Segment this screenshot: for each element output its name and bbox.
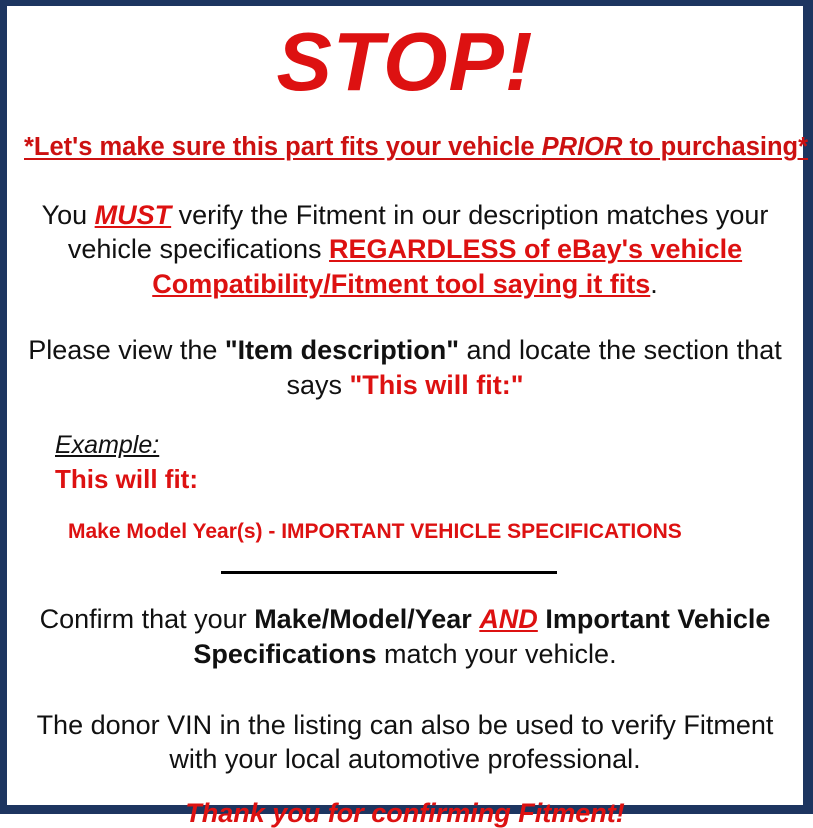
notice-content: STOP! *Let's make sure this part fits yo… bbox=[7, 20, 803, 819]
paragraph-donor-vin: The donor VIN in the listing can also be… bbox=[24, 708, 786, 777]
tagline-prior-emphasis: PRIOR bbox=[542, 133, 623, 161]
paragraph-confirm-match: Confirm that your Make/Model/Year AND Im… bbox=[24, 602, 786, 671]
section-divider bbox=[221, 571, 557, 574]
and-emphasis: AND bbox=[479, 604, 538, 634]
thank-you-message: Thank you for confirming Fitment! bbox=[24, 799, 786, 828]
example-label: Example: bbox=[55, 432, 159, 460]
tagline: *Let's make sure this part fits your veh… bbox=[24, 133, 786, 162]
this-will-fit-emphasis: "This will fit:" bbox=[349, 370, 523, 400]
make-model-year-emphasis: Make/Model/Year bbox=[254, 604, 472, 634]
divider-wrap bbox=[24, 571, 786, 574]
item-description-emphasis: "Item description" bbox=[225, 335, 459, 365]
example-label-row: Example: bbox=[55, 432, 786, 460]
fitment-notice-card: STOP! *Let's make sure this part fits yo… bbox=[0, 0, 813, 814]
confirm-part-1: Confirm that your bbox=[40, 604, 255, 634]
tagline-trail: to purchasing* bbox=[622, 133, 808, 161]
view-part-1: Please view the bbox=[28, 335, 225, 365]
tagline-lead: *Let's make sure this part fits your veh… bbox=[24, 133, 542, 161]
example-spec-line: Make Model Year(s) - IMPORTANT VEHICLE S… bbox=[55, 520, 786, 543]
example-block: Example: This will fit: Make Model Year(… bbox=[24, 432, 786, 543]
must-part-3: . bbox=[650, 269, 658, 299]
confirm-part-4: match your vehicle. bbox=[376, 639, 616, 669]
example-fit-header: This will fit: bbox=[55, 465, 786, 494]
must-emphasis: MUST bbox=[95, 200, 172, 230]
paragraph-item-description: Please view the "Item description" and l… bbox=[24, 333, 786, 402]
must-part-1: You bbox=[42, 200, 95, 230]
page-title: STOP! bbox=[24, 20, 786, 103]
paragraph-must-verify: You MUST verify the Fitment in our descr… bbox=[24, 198, 786, 302]
